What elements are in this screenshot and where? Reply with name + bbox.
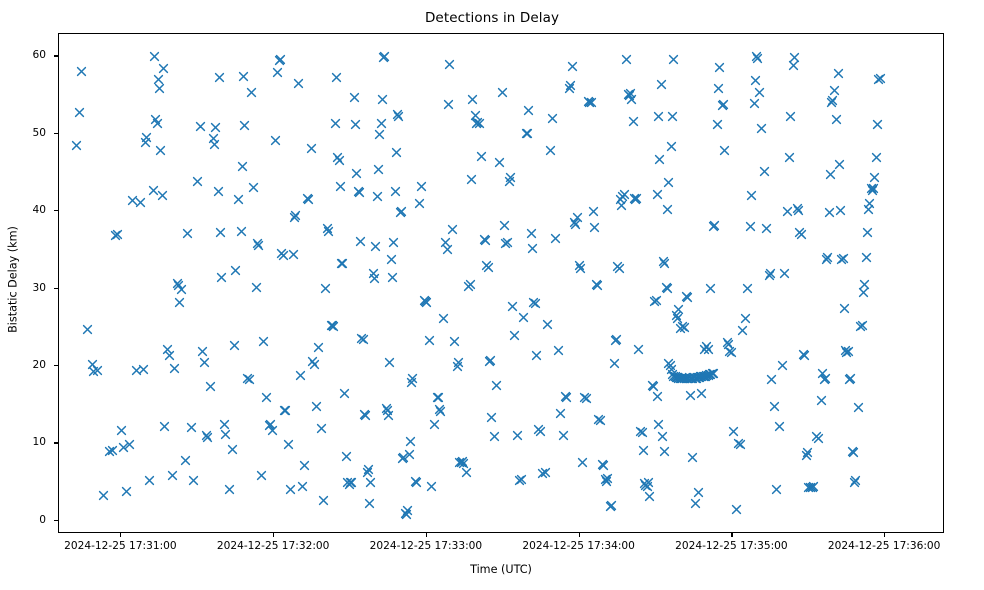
- data-point: [602, 473, 613, 484]
- data-point: [186, 422, 197, 433]
- data-point: [227, 444, 238, 455]
- data-point: [761, 223, 772, 234]
- data-point: [337, 258, 348, 269]
- y-tick-label: 50: [0, 127, 46, 139]
- data-point: [583, 96, 594, 107]
- data-point: [840, 345, 851, 356]
- data-point: [617, 191, 628, 202]
- data-point: [612, 261, 623, 272]
- data-point: [92, 365, 103, 376]
- data-point: [749, 98, 760, 109]
- data-point: [816, 395, 827, 406]
- data-point: [601, 476, 612, 487]
- data-point: [213, 186, 224, 197]
- data-point: [656, 79, 667, 90]
- data-point: [332, 152, 343, 163]
- data-point: [796, 229, 807, 240]
- data-point: [681, 291, 692, 302]
- data-point: [586, 97, 597, 108]
- data-point: [331, 72, 342, 83]
- data-point: [491, 380, 502, 391]
- data-point: [777, 360, 788, 371]
- data-point: [474, 118, 485, 129]
- data-point: [512, 430, 523, 441]
- data-point: [258, 336, 269, 347]
- data-point: [377, 94, 388, 105]
- x-tick-mark: [579, 533, 580, 537]
- data-point: [653, 111, 664, 122]
- data-point: [829, 85, 840, 96]
- data-point: [701, 370, 712, 381]
- data-point: [782, 206, 793, 217]
- data-point: [416, 181, 427, 192]
- data-point: [124, 439, 135, 450]
- data-point: [174, 297, 185, 308]
- data-point: [638, 445, 649, 456]
- data-point: [592, 280, 603, 291]
- data-point: [167, 470, 178, 481]
- data-point: [360, 410, 371, 421]
- data-point: [871, 152, 882, 163]
- data-point: [847, 446, 858, 457]
- data-point: [872, 119, 883, 130]
- data-point: [483, 262, 494, 273]
- data-point: [505, 172, 516, 183]
- data-point: [792, 203, 803, 214]
- data-point: [405, 436, 416, 447]
- data-point: [788, 60, 799, 71]
- data-point: [457, 456, 468, 467]
- data-point: [740, 313, 751, 324]
- data-point: [703, 370, 714, 381]
- data-point: [719, 145, 730, 156]
- data-point: [401, 509, 412, 520]
- data-point: [465, 279, 476, 290]
- data-point: [745, 221, 756, 232]
- data-point: [545, 145, 556, 156]
- data-point: [444, 59, 455, 70]
- data-point: [624, 90, 635, 101]
- data-point: [238, 71, 249, 82]
- data-point: [388, 237, 399, 248]
- data-point: [657, 431, 668, 442]
- data-point: [270, 135, 281, 146]
- data-point: [362, 467, 373, 478]
- data-point: [71, 140, 82, 151]
- data-point: [550, 233, 561, 244]
- data-point: [424, 335, 435, 346]
- data-point: [531, 350, 542, 361]
- data-point: [267, 425, 278, 436]
- data-point: [639, 478, 650, 489]
- data-point: [453, 357, 464, 368]
- data-point: [672, 372, 683, 383]
- data-point: [843, 346, 854, 357]
- data-point: [180, 455, 191, 466]
- data-point: [246, 87, 257, 98]
- y-tick-mark: [54, 55, 58, 56]
- data-point: [433, 392, 444, 403]
- data-point: [88, 366, 99, 377]
- data-point: [140, 137, 151, 148]
- data-point: [817, 368, 828, 379]
- data-point: [328, 321, 339, 332]
- data-point: [309, 359, 320, 370]
- data-point: [244, 374, 255, 385]
- data-point: [681, 373, 692, 384]
- page-title: Detections in Delay: [0, 10, 984, 26]
- data-point: [853, 402, 864, 413]
- data-point: [717, 100, 728, 111]
- data-point: [633, 344, 644, 355]
- data-point: [322, 223, 333, 234]
- data-point: [679, 373, 690, 384]
- x-tick-mark: [426, 533, 427, 537]
- data-point: [651, 295, 662, 306]
- data-point: [866, 183, 877, 194]
- data-point: [616, 200, 627, 211]
- x-tick-label: 2024-12-25 17:36:00: [828, 540, 941, 552]
- data-point: [605, 501, 616, 512]
- data-point: [299, 460, 310, 471]
- data-point: [668, 54, 679, 65]
- data-point: [535, 426, 546, 437]
- data-point: [799, 350, 810, 361]
- data-point: [671, 372, 682, 383]
- data-point: [589, 222, 600, 233]
- data-point: [841, 347, 852, 358]
- data-point: [864, 198, 875, 209]
- data-point: [593, 414, 604, 425]
- data-point: [522, 128, 533, 139]
- data-point: [631, 193, 642, 204]
- data-point: [148, 185, 159, 196]
- data-point: [569, 217, 580, 228]
- data-point: [494, 157, 505, 168]
- data-point: [827, 95, 838, 106]
- data-point: [826, 97, 837, 108]
- data-point: [176, 284, 187, 295]
- data-point: [850, 475, 861, 486]
- data-point: [432, 392, 443, 403]
- data-point: [384, 357, 395, 368]
- data-point: [197, 346, 208, 357]
- data-point: [192, 176, 203, 187]
- data-point: [654, 154, 665, 165]
- data-point: [280, 405, 291, 416]
- data-point: [387, 272, 398, 283]
- data-point: [677, 321, 688, 332]
- data-point: [530, 298, 541, 309]
- data-point: [110, 230, 121, 241]
- data-point: [709, 220, 720, 231]
- data-point: [540, 467, 551, 478]
- data-point: [611, 334, 622, 345]
- data-point: [489, 431, 500, 442]
- data-point: [869, 172, 880, 183]
- data-point: [173, 280, 184, 291]
- data-point: [667, 111, 678, 122]
- data-point: [630, 194, 641, 205]
- data-point: [640, 480, 651, 491]
- data-point: [121, 486, 132, 497]
- data-point: [358, 334, 369, 345]
- data-point: [141, 132, 152, 143]
- data-point: [820, 373, 831, 384]
- data-point: [793, 205, 804, 216]
- data-point: [265, 419, 276, 430]
- data-point: [472, 117, 483, 128]
- data-point: [679, 322, 690, 333]
- data-point: [398, 452, 409, 463]
- data-point: [379, 51, 390, 62]
- data-point: [326, 320, 337, 331]
- data-point: [857, 320, 868, 331]
- data-point: [297, 481, 308, 492]
- data-point: [643, 477, 654, 488]
- data-point: [386, 254, 397, 265]
- data-point: [373, 164, 384, 175]
- data-point: [484, 356, 495, 367]
- data-point: [256, 470, 267, 481]
- data-point: [766, 374, 777, 385]
- data-point: [202, 432, 213, 443]
- data-point: [210, 122, 221, 133]
- data-point: [336, 258, 347, 269]
- data-point: [253, 240, 264, 251]
- data-point: [239, 120, 250, 131]
- data-point: [591, 279, 602, 290]
- data-point: [735, 439, 746, 450]
- data-point: [242, 373, 253, 384]
- data-point: [713, 83, 724, 94]
- y-tick-mark: [54, 442, 58, 443]
- data-point: [652, 189, 663, 200]
- data-point: [514, 475, 525, 486]
- data-point: [527, 243, 538, 254]
- data-point: [628, 116, 639, 127]
- data-point: [831, 114, 842, 125]
- data-point: [588, 206, 599, 217]
- data-point: [447, 224, 458, 235]
- data-point: [754, 87, 765, 98]
- data-point: [302, 193, 313, 204]
- data-point: [420, 296, 431, 307]
- data-point: [407, 373, 418, 384]
- data-point: [216, 272, 227, 283]
- data-point: [731, 504, 742, 515]
- data-point: [214, 72, 225, 83]
- data-point: [341, 451, 352, 462]
- x-tick-mark: [731, 533, 732, 537]
- data-point: [691, 373, 702, 384]
- data-point: [665, 360, 676, 371]
- y-axis-label: Bistatic Delay (km): [7, 170, 20, 390]
- data-point: [500, 238, 511, 249]
- data-point: [666, 364, 677, 375]
- x-axis-label: Time (UTC): [58, 563, 944, 576]
- data-point: [378, 52, 389, 63]
- data-point: [808, 481, 819, 492]
- data-point: [372, 191, 383, 202]
- data-point: [327, 320, 338, 331]
- data-point: [722, 337, 733, 348]
- data-point: [135, 197, 146, 208]
- data-point: [789, 52, 800, 63]
- data-point: [553, 345, 564, 356]
- data-point: [220, 429, 231, 440]
- data-point: [353, 186, 364, 197]
- data-point: [400, 508, 411, 519]
- data-point: [581, 393, 592, 404]
- data-point: [671, 310, 682, 321]
- data-point: [698, 371, 709, 382]
- data-point: [233, 194, 244, 205]
- data-point: [774, 421, 785, 432]
- data-point: [463, 281, 474, 292]
- data-point: [844, 374, 855, 385]
- data-point: [726, 347, 737, 358]
- data-point: [382, 405, 393, 416]
- data-point: [334, 155, 345, 166]
- data-point: [323, 226, 334, 237]
- data-point: [449, 336, 460, 347]
- data-point: [363, 464, 374, 475]
- data-point: [696, 371, 707, 382]
- data-point: [635, 426, 646, 437]
- data-point: [307, 356, 318, 367]
- data-point: [461, 467, 472, 478]
- data-point: [547, 113, 558, 124]
- data-point: [127, 195, 138, 206]
- data-point: [584, 97, 595, 108]
- data-point: [838, 253, 849, 264]
- data-point: [87, 359, 98, 370]
- data-point: [283, 439, 294, 450]
- y-tick-mark: [54, 133, 58, 134]
- data-point: [295, 370, 306, 381]
- data-point: [392, 109, 403, 120]
- data-point: [570, 219, 581, 230]
- data-point: [252, 238, 263, 249]
- data-point: [708, 368, 719, 379]
- data-point: [172, 278, 183, 289]
- data-point: [610, 335, 621, 346]
- data-point: [649, 296, 660, 307]
- data-point: [751, 51, 762, 62]
- data-point: [434, 404, 445, 415]
- data-point: [619, 189, 630, 200]
- data-point: [279, 405, 290, 416]
- data-point: [784, 152, 795, 163]
- data-point: [396, 206, 407, 217]
- data-point: [507, 301, 518, 312]
- data-point: [764, 270, 775, 281]
- data-point: [659, 258, 670, 269]
- data-point: [138, 364, 149, 375]
- data-point: [303, 194, 314, 205]
- data-point: [623, 89, 634, 100]
- data-point: [662, 283, 673, 294]
- data-point: [438, 313, 449, 324]
- data-point: [466, 174, 477, 185]
- data-point: [714, 62, 725, 73]
- data-point: [687, 373, 698, 384]
- data-point: [629, 193, 640, 204]
- data-point: [673, 373, 684, 384]
- data-point: [526, 228, 537, 239]
- data-point: [614, 263, 625, 274]
- data-point: [395, 207, 406, 218]
- data-point: [421, 297, 432, 308]
- data-point: [164, 350, 175, 361]
- data-point: [454, 457, 465, 468]
- data-point: [426, 481, 437, 492]
- data-point: [381, 403, 392, 414]
- data-point: [278, 250, 289, 261]
- data-point: [690, 373, 701, 384]
- data-point: [609, 358, 620, 369]
- data-point: [811, 431, 822, 442]
- plot-area: [58, 33, 944, 533]
- data-point: [219, 419, 230, 430]
- data-point: [561, 392, 572, 403]
- data-point: [737, 325, 748, 336]
- data-point: [391, 147, 402, 158]
- data-point: [440, 237, 451, 248]
- data-point: [345, 477, 356, 488]
- data-point: [705, 369, 716, 380]
- data-point: [288, 249, 299, 260]
- data-point: [675, 373, 686, 384]
- data-point: [248, 182, 259, 193]
- chart-figure: Detections in Delay 2024-12-25 17:31:002…: [0, 0, 984, 590]
- data-point: [131, 365, 142, 376]
- data-point: [579, 392, 590, 403]
- data-point: [149, 51, 160, 62]
- data-point: [794, 227, 805, 238]
- data-point: [188, 475, 199, 486]
- data-point: [675, 323, 686, 334]
- data-point: [521, 128, 532, 139]
- data-point: [152, 118, 163, 129]
- data-point: [274, 55, 285, 66]
- data-point: [849, 477, 860, 488]
- data-point: [523, 105, 534, 116]
- data-point: [419, 295, 430, 306]
- data-point: [802, 447, 813, 458]
- data-point: [848, 447, 859, 458]
- data-point: [821, 254, 832, 265]
- data-point: [564, 83, 575, 94]
- data-point: [621, 54, 632, 65]
- data-point: [499, 220, 510, 231]
- data-point: [456, 457, 467, 468]
- data-point: [289, 212, 300, 223]
- data-point: [406, 377, 417, 388]
- data-point: [752, 53, 763, 64]
- data-point: [723, 339, 734, 350]
- data-point: [822, 252, 833, 263]
- data-point: [859, 279, 870, 290]
- data-point: [652, 391, 663, 402]
- data-point: [693, 487, 704, 498]
- data-point: [479, 234, 490, 245]
- data-point: [272, 67, 283, 78]
- data-point: [98, 490, 109, 501]
- data-point: [684, 372, 695, 383]
- data-point: [74, 107, 85, 118]
